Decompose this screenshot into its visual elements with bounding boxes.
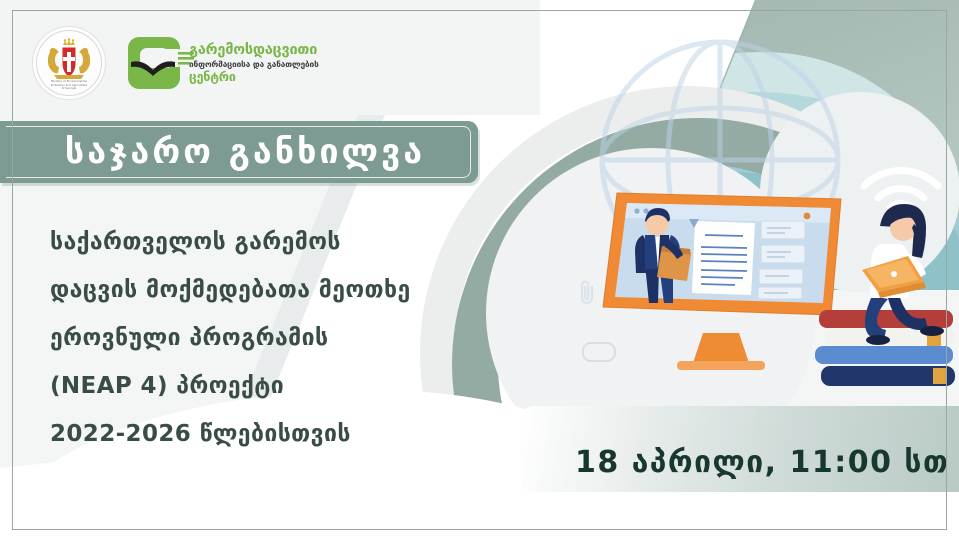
description-line: 2022-2026 წლებისთვის: [50, 410, 450, 458]
coat-of-arms-icon: [42, 37, 96, 83]
date-badge: 18 აპრილი, 11:00 სთ: [575, 445, 949, 480]
eiec-line-1: გარემოსდაცვითი: [189, 43, 319, 58]
description-line: საქართველოს გარემოს: [50, 218, 450, 266]
open-book-icon: [131, 60, 177, 82]
header-bar: Ministry of Environmental Protection and…: [0, 0, 540, 115]
eiec-line-3: ცენტრი: [189, 71, 319, 84]
online-meeting-illustration: [560, 150, 959, 450]
poster-canvas: 18 აპრილი, 11:00 სთ: [0, 0, 959, 540]
logo-lines-icon: [178, 51, 194, 67]
eiec-logo-text: გარემოსდაცვითი ინფორმაციისა და განათლები…: [189, 43, 319, 83]
eiec-line-2: ინფორმაციისა და განათლების: [189, 60, 319, 68]
eiec-logo-mark-icon: [128, 37, 180, 89]
description-line: (NEAP 4) პროექტი: [50, 362, 450, 410]
emblem-caption: Ministry of Environmental Protection and…: [33, 80, 105, 91]
headline-banner: საჯარო განხილვა: [0, 121, 478, 183]
desktop-monitor: [595, 175, 845, 380]
georgia-coat-of-arms-emblem: Ministry of Environmental Protection and…: [32, 26, 106, 100]
page-title: საჯარო განხილვა: [0, 121, 478, 183]
woman-with-laptop: [850, 200, 959, 360]
description-line: დაცვის მოქმედებათა მეოთხე: [50, 266, 450, 314]
eiec-logo: გარემოსდაცვითი ინფორმაციისა და განათლები…: [128, 37, 319, 89]
logo-group: Ministry of Environmental Protection and…: [32, 26, 319, 100]
description-line: ეროვნული პროგრამის: [50, 314, 450, 362]
event-description: საქართველოს გარემოს დაცვის მოქმედებათა მ…: [50, 218, 450, 458]
